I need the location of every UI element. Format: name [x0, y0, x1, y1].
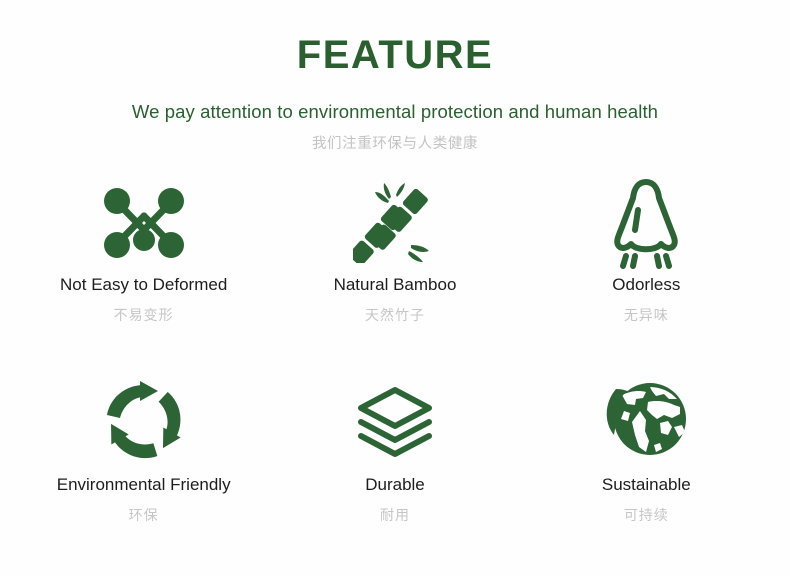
feature-label-en: Not Easy to Deformed — [60, 275, 227, 295]
layers-stack-icon — [355, 367, 435, 475]
subtitle-english: We pay attention to environmental protec… — [0, 101, 790, 123]
feature-section: FEATURE We pay attention to environmenta… — [0, 0, 790, 576]
feature-label-zh: 环保 — [129, 505, 159, 525]
nose-icon — [608, 171, 684, 275]
section-header: FEATURE We pay attention to environmenta… — [0, 0, 790, 153]
molecule-structure-icon — [102, 171, 186, 275]
recycle-icon — [100, 367, 188, 475]
feature-item-sustainable: Sustainable 可持续 — [521, 367, 772, 563]
feature-item-natural-bamboo: Natural Bamboo 天然竹子 — [269, 171, 520, 367]
page-title: FEATURE — [0, 34, 790, 76]
feature-item-odorless: Odorless 无异味 — [521, 171, 772, 367]
feature-label-zh: 无异味 — [624, 305, 669, 325]
globe-leaf-icon — [602, 367, 690, 475]
feature-label-en: Environmental Friendly — [57, 475, 231, 495]
feature-item-not-easy-to-deformed: Not Easy to Deformed 不易变形 — [18, 171, 269, 367]
feature-grid: Not Easy to Deformed 不易变形 — [0, 171, 790, 563]
feature-label-en: Durable — [365, 475, 425, 495]
feature-item-environmental-friendly: Environmental Friendly 环保 — [18, 367, 269, 563]
feature-label-en: Odorless — [612, 275, 680, 295]
subtitle-chinese: 我们注重环保与人类健康 — [0, 132, 790, 153]
feature-label-zh: 耐用 — [380, 505, 410, 525]
feature-label-zh: 可持续 — [624, 505, 669, 525]
bamboo-icon — [353, 171, 437, 275]
feature-label-en: Natural Bamboo — [334, 275, 457, 295]
feature-label-zh: 不易变形 — [114, 305, 174, 325]
feature-label-en: Sustainable — [602, 475, 691, 495]
feature-item-durable: Durable 耐用 — [269, 367, 520, 563]
feature-label-zh: 天然竹子 — [365, 305, 425, 325]
